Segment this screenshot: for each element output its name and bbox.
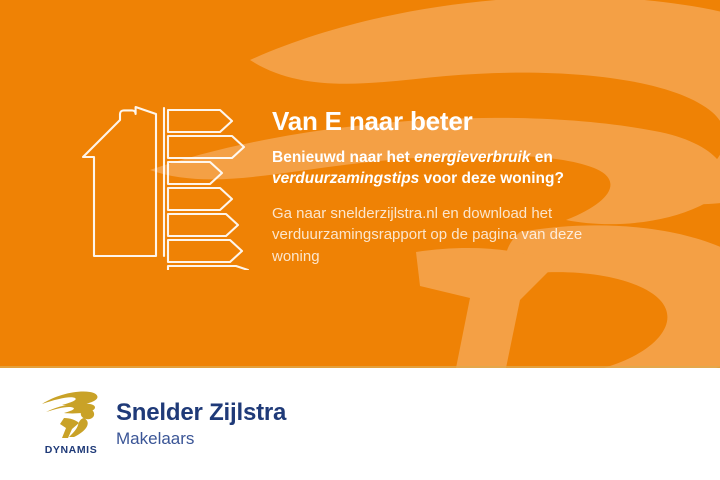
energy-bar-2 — [168, 136, 244, 158]
brand-subtitle: Makelaars — [116, 428, 286, 449]
energy-label-promo-banner: Van E naar beter Benieuwd naar het energ… — [0, 0, 720, 480]
hero-panel: Van E naar beter Benieuwd naar het energ… — [0, 0, 720, 368]
dynamis-wordmark: DYNAMIS — [38, 444, 104, 456]
energy-bar-3 — [168, 162, 222, 184]
headline: Van E naar beter — [272, 107, 672, 137]
brand-name: Snelder Zijlstra — [116, 400, 286, 426]
subheadline-part-2: en — [530, 149, 552, 166]
body-text: Ga naar snelderzijlstra.nl en download h… — [272, 203, 617, 268]
energy-bar-1 — [168, 110, 232, 132]
subheadline-emphasis-energieverbruik: energieverbruik — [414, 149, 530, 166]
subheadline-emphasis-verduurzamingstips: verduurzamingstips — [272, 170, 419, 187]
subheadline-part-1: Benieuwd naar het — [272, 149, 414, 166]
energy-bar-4 — [168, 188, 232, 210]
brand-lockup: DYNAMIS Snelder Zijlstra Makelaars — [38, 388, 286, 456]
mercury-winged-figure-icon — [38, 388, 104, 440]
energy-label-house-graphic — [60, 100, 250, 270]
house-outline — [83, 107, 156, 256]
dynamis-logo-mark: DYNAMIS — [38, 388, 104, 456]
logo-band: DYNAMIS Snelder Zijlstra Makelaars — [0, 368, 720, 480]
subheadline-part-3: voor deze woning? — [419, 170, 564, 187]
energy-bar-5 — [168, 214, 238, 236]
energy-bar-7 — [168, 266, 248, 270]
brand-text-group: Snelder Zijlstra Makelaars — [116, 388, 286, 449]
subheadline: Benieuwd naar het energieverbruik en ver… — [272, 147, 602, 190]
copy-block: Van E naar beter Benieuwd naar het energ… — [272, 107, 672, 268]
energy-bar-6 — [168, 240, 242, 262]
